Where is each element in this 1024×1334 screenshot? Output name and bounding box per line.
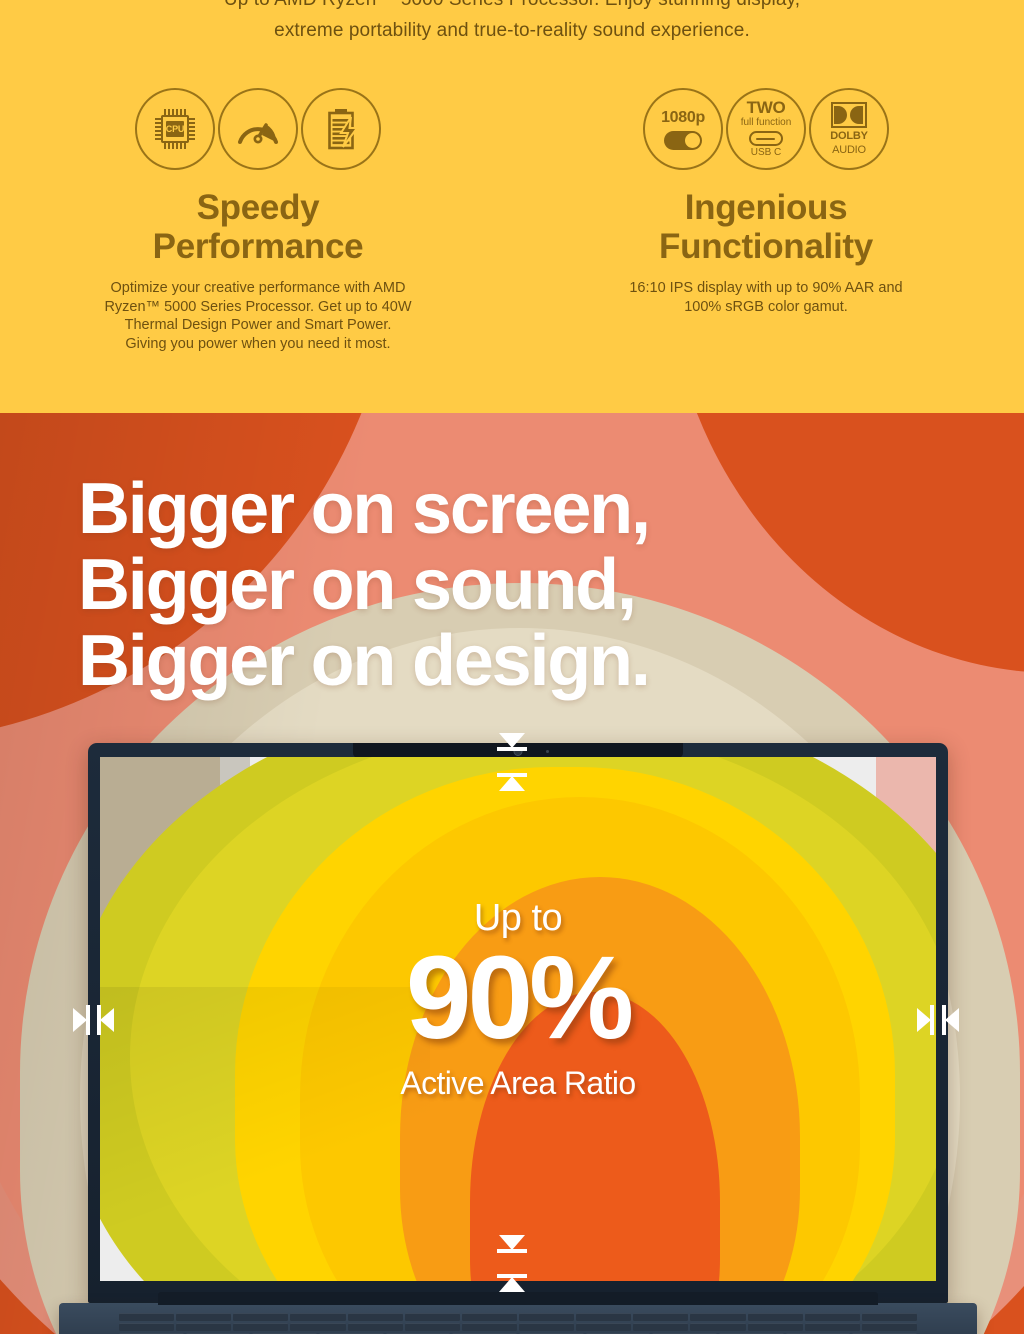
feature-title-line-2: Performance <box>153 227 364 266</box>
feature-title-speedy-performance: Speedy Performance <box>153 188 364 266</box>
measure-marker-top-inner <box>499 773 527 791</box>
hero-headline: Bigger on screen, Bigger on sound, Bigge… <box>78 471 649 699</box>
battery-charge-icon <box>301 88 381 170</box>
measure-marker-right-inner <box>942 1005 959 1035</box>
laptop-lid: Up to 90% Active Area Ratio <box>88 743 948 1303</box>
screen-overlay-copy: Up to 90% Active Area Ratio <box>100 897 936 1103</box>
dolby-audio-label: AUDIO <box>832 144 866 156</box>
laptop-base <box>59 1303 977 1334</box>
intro-paragraph: Up to AMD Ryzen™ 5000 Series Processor. … <box>0 0 1024 46</box>
measure-marker-right-outer <box>917 1005 934 1035</box>
feature-description-speedy-performance: Optimize your creative performance with … <box>103 279 413 353</box>
usb-function-label: full function <box>741 116 792 129</box>
intro-line-2: extreme portability and true-to-reality … <box>0 15 1024 46</box>
hero-headline-line-2: Bigger on sound, <box>78 547 649 623</box>
feature-title-line-1: Speedy <box>153 188 364 227</box>
feature-title-line-2: Functionality <box>659 227 873 266</box>
hero-section: Bigger on screen, Bigger on sound, Bigge… <box>0 413 1024 1334</box>
feature-columns: CPU <box>0 88 1024 353</box>
screen-percent-value: 90% <box>100 939 936 1057</box>
screen-caption: Active Area Ratio <box>100 1063 936 1103</box>
measure-marker-bottom-inner <box>499 1274 527 1292</box>
hero-headline-line-3: Bigger on design. <box>78 623 649 699</box>
dolby-brand-label: DOLBY <box>830 130 868 142</box>
measure-marker-bottom-outer <box>499 1235 527 1253</box>
webcam-shutter-icon <box>664 131 702 150</box>
cpu-icon: CPU <box>135 88 215 170</box>
laptop-screen: Up to 90% Active Area Ratio <box>100 757 936 1281</box>
usb-c-port-icon <box>749 131 783 146</box>
feature-title-line-1: Ingenious <box>659 188 873 227</box>
speedometer-icon <box>218 88 298 170</box>
feature-description-ingenious-functionality: 16:10 IPS display with up to 90% AAR and… <box>611 279 921 316</box>
product-marketing-page: Up to AMD Ryzen™ 5000 Series Processor. … <box>0 0 1024 1334</box>
cpu-icon-label: CPU <box>166 121 184 137</box>
laptop-hinge <box>158 1292 878 1305</box>
webcam-resolution-label: 1080p <box>661 109 705 127</box>
features-section: Up to AMD Ryzen™ 5000 Series Processor. … <box>0 0 1024 413</box>
ingenious-functionality-icon-row: 1080p TWO full function USB C <box>643 88 889 170</box>
usb-c-icon: TWO full function USB C <box>726 88 806 170</box>
dolby-double-d-icon <box>831 102 867 128</box>
measure-marker-top-outer <box>499 733 527 751</box>
webcam-1080p-icon: 1080p <box>643 88 723 170</box>
usb-type-label: USB C <box>751 147 782 159</box>
usb-count-label: TWO <box>747 99 786 116</box>
feature-speedy-performance: CPU <box>58 88 458 353</box>
intro-line-1: Up to AMD Ryzen™ 5000 Series Processor. … <box>0 0 1024 15</box>
webcam-indicator-icon <box>546 750 549 753</box>
laptop-keyboard <box>119 1313 917 1334</box>
feature-ingenious-functionality: 1080p TWO full function USB C <box>566 88 966 353</box>
hero-headline-line-1: Bigger on screen, <box>78 471 649 547</box>
speedy-performance-icon-row: CPU <box>135 88 381 170</box>
dolby-audio-icon: DOLBY AUDIO <box>809 88 889 170</box>
feature-title-ingenious-functionality: Ingenious Functionality <box>659 188 873 266</box>
